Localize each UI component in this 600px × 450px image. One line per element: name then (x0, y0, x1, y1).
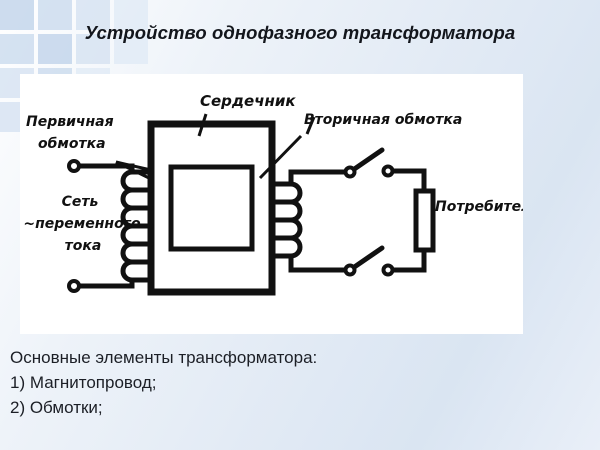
label-primary-winding-line1: Первичная (26, 114, 114, 130)
switch-contacts (384, 167, 393, 275)
secondary-winding-coil (272, 184, 300, 256)
mains-terminal-bottom (69, 281, 79, 291)
mains-terminal-top (69, 161, 79, 171)
label-mains-line3: тока (65, 238, 102, 254)
label-consumer: Потребитель (435, 199, 523, 215)
knife-switch-bottom (346, 248, 383, 275)
figure-panel: Сердечник Первичная обмотка Сеть ~переме… (20, 74, 523, 334)
body-text-block: Основные элементы трансформатора: 1) Маг… (10, 345, 590, 420)
page-title: Устройство однофазного трансформатора (0, 22, 600, 44)
knife-switch-top (346, 150, 383, 177)
label-core: Сердечник (200, 92, 296, 110)
body-item-2: 2) Обмотки; (10, 395, 590, 420)
transformer-core (151, 124, 272, 292)
slide-canvas: Устройство однофазного трансформатора (0, 0, 600, 450)
label-secondary-winding: Вторичная обмотка (304, 112, 462, 128)
label-mains-line1: Сеть (62, 194, 99, 210)
body-heading: Основные элементы трансформатора: (10, 345, 590, 370)
label-mains-line2: ~переменного (23, 216, 141, 232)
transformer-schematic-svg: Сердечник Первичная обмотка Сеть ~переме… (20, 74, 523, 334)
label-primary-winding-line2: обмотка (38, 136, 106, 152)
load-resistor (416, 191, 433, 250)
body-item-1: 1) Магнитопровод; (10, 370, 590, 395)
